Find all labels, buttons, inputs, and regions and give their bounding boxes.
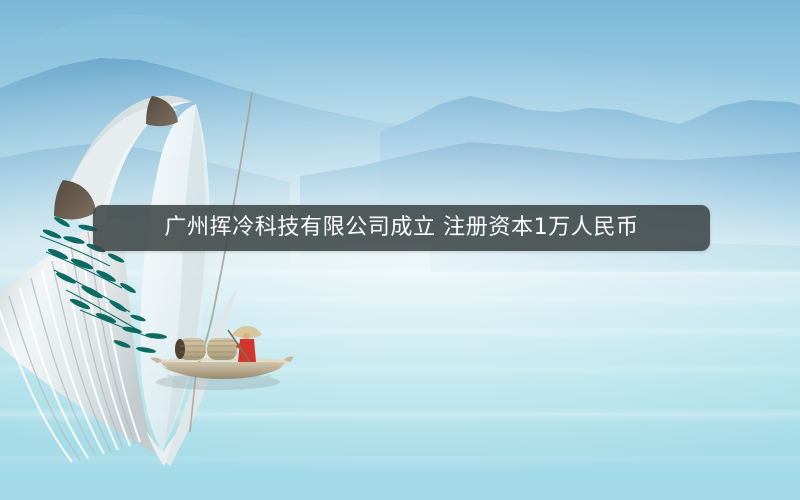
caption-text: 广州挥冷科技有限公司成立 注册资本1万人民币 bbox=[164, 217, 638, 239]
caption-banner: 广州挥冷科技有限公司成立 注册资本1万人民币 bbox=[93, 205, 710, 251]
illustration-canvas: 广州挥冷科技有限公司成立 注册资本1万人民币 bbox=[0, 0, 800, 500]
